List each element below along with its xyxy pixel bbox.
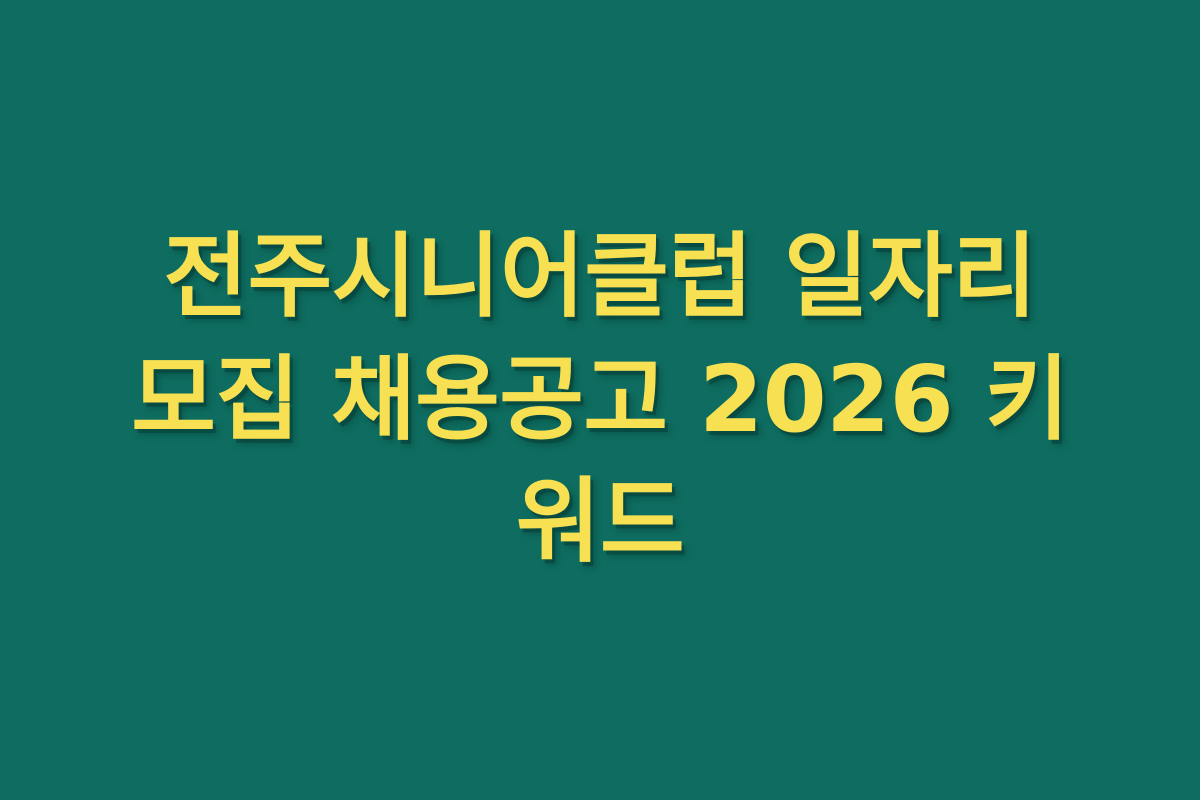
headline-line-2: 모집 채용공고 2026 키	[120, 339, 1080, 461]
headline-line-1: 전주시니어클럽 일자리	[120, 216, 1080, 338]
page-title: 전주시니어클럽 일자리 모집 채용공고 2026 키 워드	[120, 216, 1080, 583]
banner-canvas: 전주시니어클럽 일자리 모집 채용공고 2026 키 워드	[0, 0, 1200, 800]
headline-line-3: 워드	[120, 461, 1080, 583]
